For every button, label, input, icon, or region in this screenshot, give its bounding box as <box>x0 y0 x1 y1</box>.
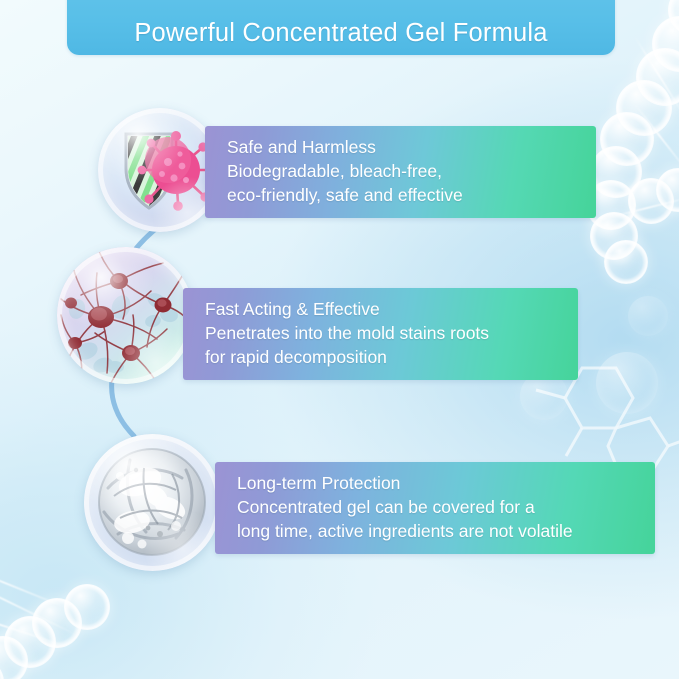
page-title: Powerful Concentrated Gel Formula <box>134 19 547 48</box>
neuron-network-bubble-icon <box>57 247 194 384</box>
feature-line: eco-friendly, safe and effective <box>227 183 582 207</box>
gel-droplet-bubble-icon <box>84 434 221 571</box>
feature-line: long time, active ingredients are not vo… <box>237 519 641 543</box>
decorative-bubble <box>596 352 658 414</box>
feature-line: Penetrates into the mold stains roots <box>205 321 564 345</box>
neuron-network-artwork <box>57 247 194 384</box>
feature-text-banner-safe: Safe and Harmless Biodegradable, bleach-… <box>205 126 596 218</box>
connector-line-fast-to-long <box>104 378 174 440</box>
page-title-banner: Powerful Concentrated Gel Formula <box>67 0 615 55</box>
feature-line: Concentrated gel can be covered for a <box>237 495 641 519</box>
shield-virus-artwork <box>98 108 222 232</box>
gel-texture-artwork <box>84 434 221 571</box>
decorative-bubble <box>628 296 668 336</box>
feature-heading: Fast Acting & Effective <box>205 297 564 321</box>
feature-heading: Long-term Protection <box>237 471 641 495</box>
feature-heading: Safe and Harmless <box>227 135 582 159</box>
shield-virus-bubble-icon <box>98 108 222 232</box>
feature-line: for rapid decomposition <box>205 345 564 369</box>
feature-line: Biodegradable, bleach-free, <box>227 159 582 183</box>
product-feature-infographic: Powerful Concentrated Gel Formula <box>0 0 679 679</box>
feature-text-banner-long: Long-term Protection Concentrated gel ca… <box>215 462 655 554</box>
feature-text-banner-fast: Fast Acting & Effective Penetrates into … <box>183 288 578 380</box>
